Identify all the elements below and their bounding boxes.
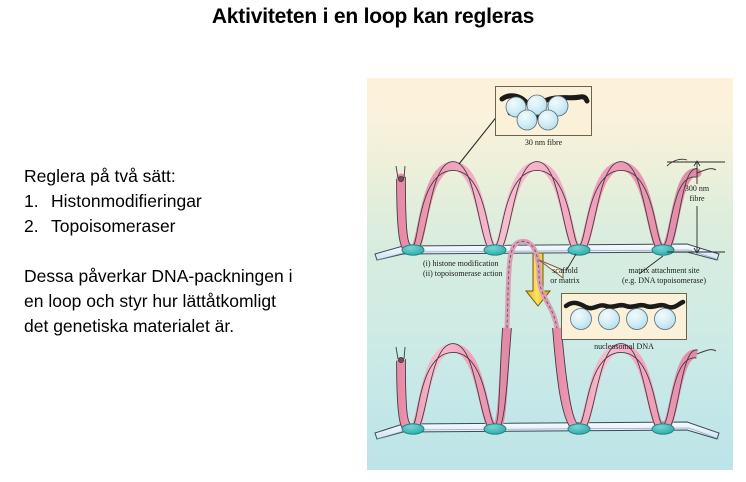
list-item-label: Topoisomeraser xyxy=(51,214,176,239)
page-title: Aktiviteten i en loop kan regleras xyxy=(0,5,746,29)
label-300nm-fibre-line1: 300 nm xyxy=(673,184,721,194)
label-nucleosomal-dna: nucleosomal DNA xyxy=(561,342,687,352)
inset-30nm-svg xyxy=(496,87,591,135)
list-item: 2. Topoisomeraser xyxy=(24,214,342,239)
paragraph-line: en loop och styr hur lättåtkomligt xyxy=(24,289,342,314)
list-item-label: Histonmodifieringar xyxy=(51,189,202,214)
inset-30nm-fibre xyxy=(495,86,592,136)
label-300nm-fibre-line2: fibre xyxy=(673,194,721,204)
label-step-topoisomerase-action: (ii) topoisomerase action xyxy=(423,269,503,279)
inset-nucleosomal-svg xyxy=(562,294,686,339)
label-scaffold-line1: scaffold xyxy=(533,266,597,276)
chromatin-loop-diagram: 30 nm fibre 300 nm fibre (i) histone mod… xyxy=(367,78,733,470)
label-30nm-fibre: 30 nm fibre xyxy=(495,138,592,148)
body-paragraph: Dessa påverkar DNA-packningen i en loop … xyxy=(24,264,342,339)
left-text-block: Reglera på två sätt: 1. Histonmodifierin… xyxy=(24,164,342,339)
list-item: 1. Histonmodifieringar xyxy=(24,189,342,214)
inset-nucleosomal-dna xyxy=(561,293,687,340)
paragraph-line: det genetiska materialet är. xyxy=(24,314,342,339)
label-matrix-attachment-site-line2: (e.g. DNA topoisomerase) xyxy=(597,276,731,286)
label-step-histone-modification: (i) histone modification xyxy=(423,259,499,269)
dna-free-end-lower-right xyxy=(697,350,716,354)
callout-line-30nm xyxy=(459,115,498,164)
list-item-number: 2. xyxy=(24,214,41,239)
label-scaffold-line2: or matrix xyxy=(533,276,597,286)
label-matrix-attachment-site-line1: matrix attachment site xyxy=(597,266,731,276)
lead-text: Reglera på två sätt: xyxy=(24,164,342,189)
paragraph-line: Dessa påverkar DNA-packningen i xyxy=(24,264,342,289)
numbered-list: 1. Histonmodifieringar 2. Topoisomeraser xyxy=(24,189,342,239)
list-item-number: 1. xyxy=(24,189,41,214)
